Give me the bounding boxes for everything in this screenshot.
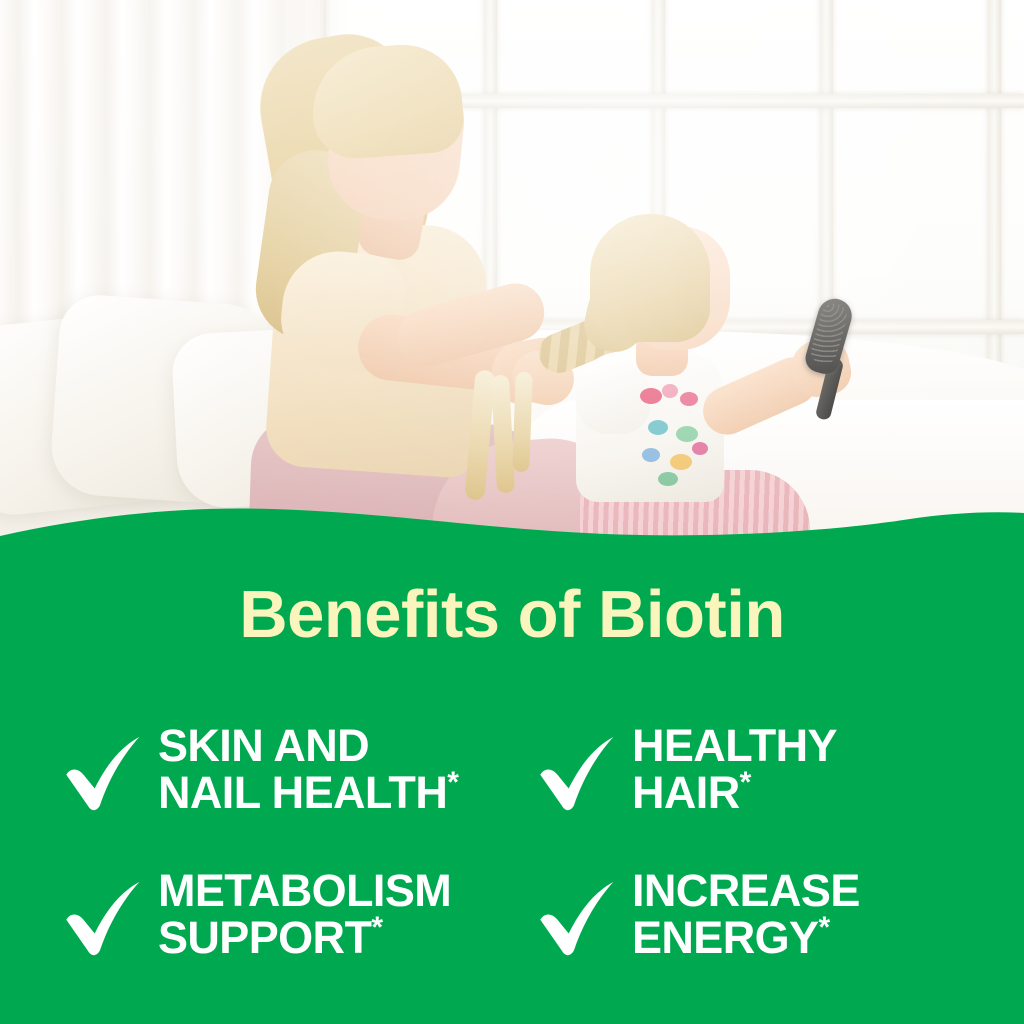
benefit-line-1: SKIN AND [158, 720, 369, 771]
benefit-label: INCREASEENERGY* [632, 868, 860, 961]
benefits-content: Benefits of Biotin SKIN ANDNAIL HEALTH* [0, 560, 1024, 1024]
checkmark-icon [62, 730, 148, 816]
girl-hair [590, 214, 710, 342]
checkmark-icon [536, 875, 622, 961]
benefit-line-2: NAIL HEALTH [158, 767, 447, 818]
benefits-list: SKIN ANDNAIL HEALTH* HEALTHYHAIR* [0, 697, 1024, 987]
benefit-line-1: METABOLISM [158, 865, 451, 916]
benefit-line-1: HEALTHY [632, 720, 837, 771]
footnote-marker: * [740, 766, 751, 799]
footnote-marker: * [371, 911, 382, 944]
benefit-item-metabolism-support: METABOLISMSUPPORT* [0, 842, 512, 987]
benefit-item-skin-and-nail-health: SKIN ANDNAIL HEALTH* [0, 697, 512, 842]
benefit-label: SKIN ANDNAIL HEALTH* [158, 723, 458, 816]
checkmark-icon [536, 730, 622, 816]
benefit-line-1: INCREASE [632, 865, 860, 916]
biotin-benefits-graphic: Benefits of Biotin SKIN ANDNAIL HEALTH* [0, 0, 1024, 1024]
lifestyle-photo [0, 0, 1024, 560]
benefit-line-2: ENERGY [632, 912, 818, 963]
benefit-line-2: SUPPORT [158, 912, 371, 963]
footnote-marker: * [447, 766, 458, 799]
footnote-marker: * [818, 911, 829, 944]
checkmark-icon [62, 875, 148, 961]
page-title: Benefits of Biotin [0, 581, 1024, 648]
hair-strand [512, 372, 532, 473]
benefit-label: METABOLISMSUPPORT* [158, 868, 451, 961]
benefit-label: HEALTHYHAIR* [632, 723, 837, 816]
benefit-item-healthy-hair: HEALTHYHAIR* [512, 697, 1024, 842]
benefit-line-2: HAIR [632, 767, 740, 818]
benefit-item-increase-energy: INCREASEENERGY* [512, 842, 1024, 987]
shirt-floral-print [636, 382, 722, 492]
